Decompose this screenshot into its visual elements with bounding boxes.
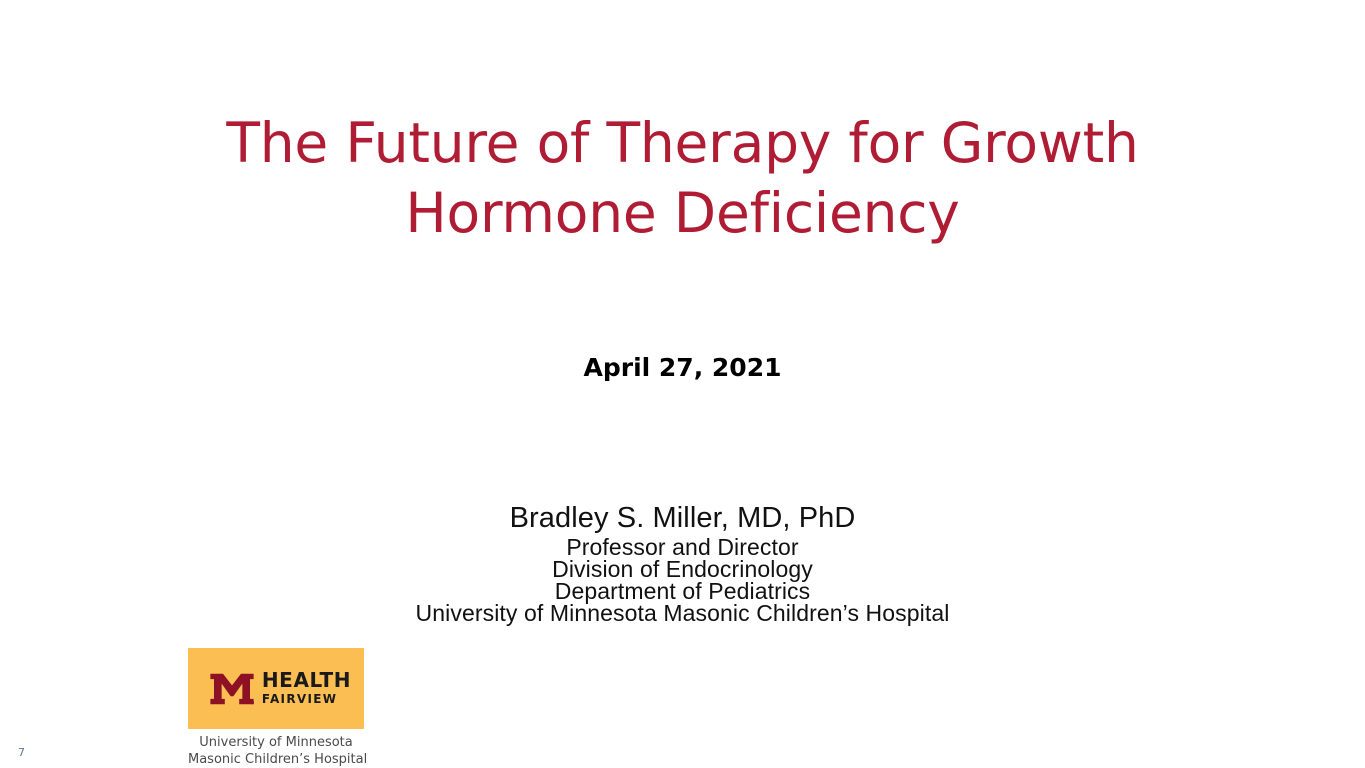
- logo-wordmark: HEALTH FAIRVIEW: [262, 670, 351, 707]
- logo-wordmark-primary: HEALTH: [262, 670, 351, 690]
- presenter-division: Division of Endocrinology: [160, 558, 1205, 580]
- presenter-department: Department of Pediatrics: [160, 580, 1205, 602]
- slide-date: April 27, 2021: [200, 352, 1165, 384]
- presenter-role: Professor and Director: [160, 536, 1205, 558]
- institution-logo: HEALTH FAIRVIEW University of Minnesota …: [188, 648, 364, 768]
- logo-wordmark-secondary: FAIRVIEW: [262, 692, 337, 707]
- slide-title-line-1: The Future of Therapy for Growth: [200, 108, 1165, 178]
- slide-date-text: April 27, 2021: [200, 352, 1165, 384]
- presentation-slide: The Future of Therapy for Growth Hormone…: [0, 0, 1365, 768]
- logo-lockup: HEALTH FAIRVIEW: [209, 670, 351, 707]
- logo-caption: University of Minnesota Masonic Children…: [188, 734, 364, 768]
- logo-caption-line-2: Masonic Children’s Hospital: [188, 751, 364, 768]
- presenter-institution: University of Minnesota Masonic Children…: [160, 602, 1205, 624]
- block-m-icon: [209, 671, 255, 707]
- slide-title: The Future of Therapy for Growth Hormone…: [200, 108, 1165, 248]
- slide-title-line-2: Hormone Deficiency: [200, 178, 1165, 248]
- presenter-name: Bradley S. Miller, MD, PhD: [160, 502, 1205, 535]
- presenter-info: Bradley S. Miller, MD, PhD Professor and…: [160, 502, 1205, 624]
- logo-badge: HEALTH FAIRVIEW: [188, 648, 364, 729]
- logo-caption-line-1: University of Minnesota: [188, 734, 364, 751]
- page-number: 7: [18, 746, 25, 759]
